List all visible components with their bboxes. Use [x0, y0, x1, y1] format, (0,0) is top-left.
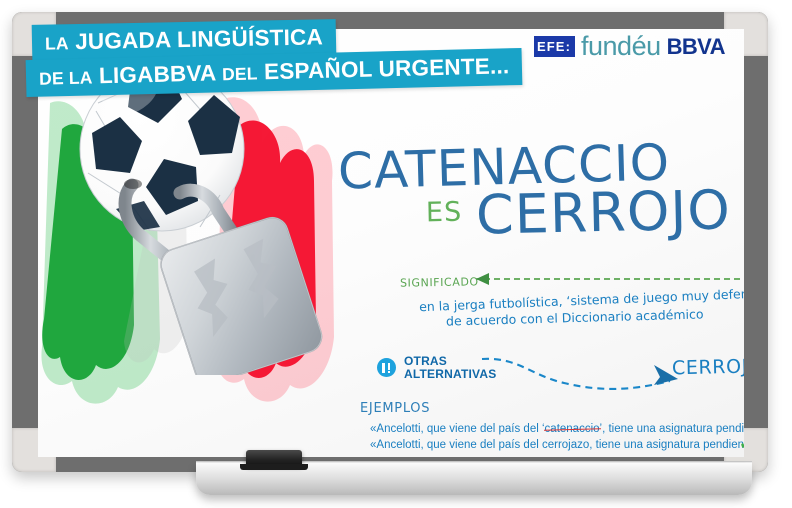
alternativas-target-word: CERROJAZO: [672, 355, 744, 380]
ejemplo-1-wrong: «Ancelotti, que viene del país del ‘cate…: [370, 423, 744, 435]
headline-equivalent: CERROJO: [475, 178, 731, 246]
title-espanol-urgente: ESPAÑOL URGENTE...: [264, 53, 510, 84]
fundeu-wordmark: fundéu: [581, 33, 661, 60]
ejemplos-label: EJEMPLOS: [360, 401, 430, 416]
icon-bar-exclamation-stem: [388, 363, 391, 370]
significado-label: SIGNIFICADO: [400, 275, 479, 289]
ejemplo-1-right: «Ancelotti, que viene del país del cerro…: [370, 439, 744, 451]
info-exclamation-icon: [377, 358, 396, 377]
checkmark-icon-1: ✓: [739, 435, 744, 452]
eraser-base: [240, 464, 308, 470]
icon-bar-exclamation-dot: [388, 371, 391, 373]
title-jugada-linguistica: JUGADA LINGÜÍSTICA: [75, 24, 323, 54]
efe-fundeu-bbva-logo: EFE: fundéu BBVA: [534, 33, 725, 60]
title-ligabbva: LIGABBVA: [99, 60, 216, 88]
infographic-canvas: CATENACCIO ES CERROJO SIGNIFICADO en la …: [0, 0, 792, 508]
headline-connector: ES: [426, 197, 463, 229]
ejemplo-1-wrong-suffix: ’, tiene una asignatura pendiente»: [600, 423, 744, 435]
bbva-wordmark: BBVA: [667, 36, 725, 58]
efe-logo-box: EFE:: [534, 36, 575, 57]
padlock-body: [157, 214, 326, 375]
title-del: DEL: [222, 63, 258, 84]
alternativas-arrow: [478, 351, 698, 397]
title-la: LA: [45, 33, 69, 53]
headline-term: CATENACCIO: [337, 133, 671, 200]
ejemplo-1-struck-word: catenaccio: [545, 423, 600, 435]
icon-bar-i: [382, 363, 385, 373]
title-de-la: DE LA: [39, 67, 93, 88]
ejemplo-1-wrong-prefix: «Ancelotti, que viene del país del ‘: [370, 423, 545, 435]
